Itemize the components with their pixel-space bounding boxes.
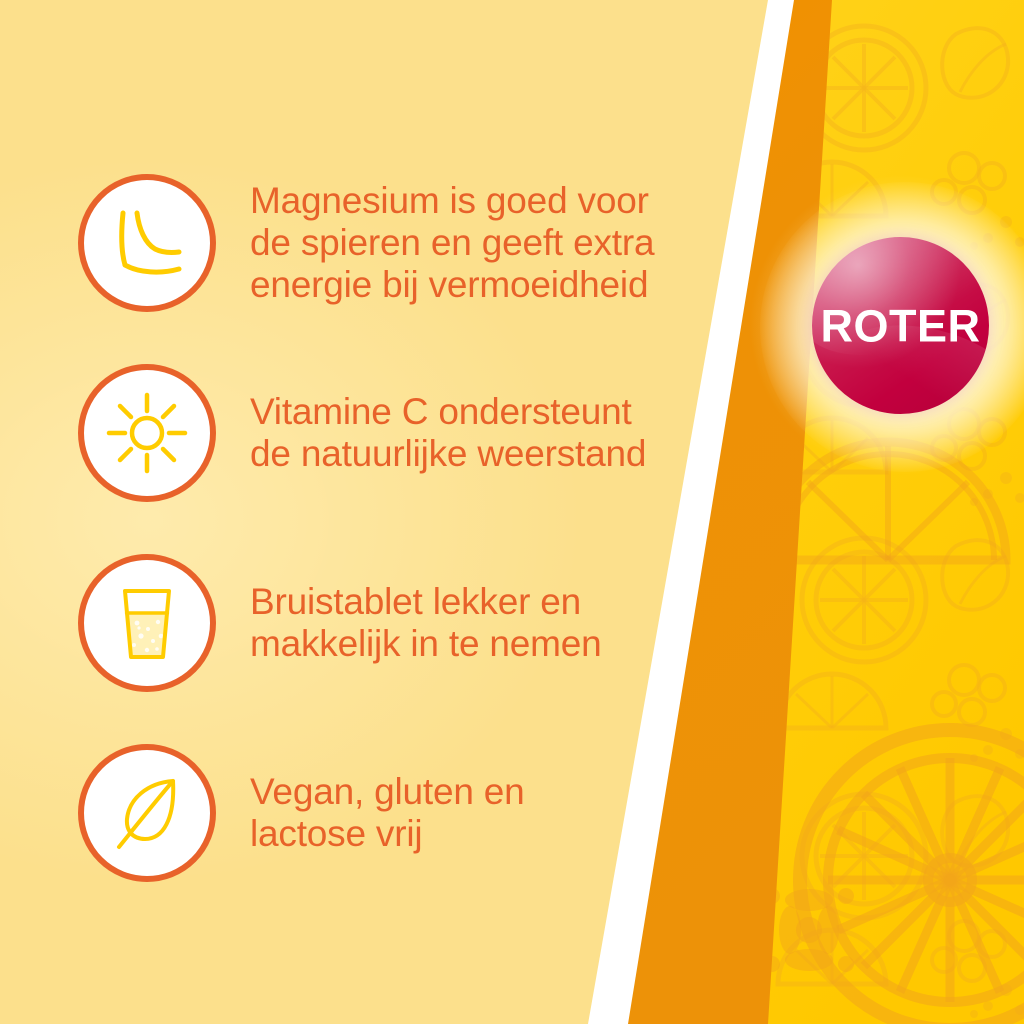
promotional-poster: Magnesium is goed voor de spieren en gee… bbox=[0, 0, 1024, 1024]
benefits-list: Magnesium is goed voor de spieren en gee… bbox=[78, 148, 718, 908]
benefit-text: Vegan, gluten en lactose vrij bbox=[250, 771, 525, 855]
benefit-icon-circle bbox=[78, 174, 216, 312]
list-item: Vegan, gluten en lactose vrij bbox=[78, 718, 718, 908]
benefit-icon-circle bbox=[78, 744, 216, 882]
benefit-text: Vitamine C ondersteunt de natuurlijke we… bbox=[250, 391, 646, 475]
sun-icon bbox=[103, 389, 191, 477]
brand-name: ROTER bbox=[812, 303, 989, 348]
leaf-icon bbox=[103, 769, 191, 857]
list-item: Bruistablet lekker en makkelijk in te ne… bbox=[78, 528, 718, 718]
fizzy-glass-icon bbox=[103, 579, 191, 667]
benefit-text: Magnesium is goed voor de spieren en gee… bbox=[250, 180, 654, 307]
list-item: Vitamine C ondersteunt de natuurlijke we… bbox=[78, 338, 718, 528]
list-item: Magnesium is goed voor de spieren en gee… bbox=[78, 148, 718, 338]
benefit-icon-circle bbox=[78, 364, 216, 502]
benefit-icon-circle bbox=[78, 554, 216, 692]
flexed-arm-icon bbox=[103, 199, 191, 287]
roter-logo-badge: ROTER bbox=[812, 237, 989, 414]
benefit-text: Bruistablet lekker en makkelijk in te ne… bbox=[250, 581, 602, 665]
